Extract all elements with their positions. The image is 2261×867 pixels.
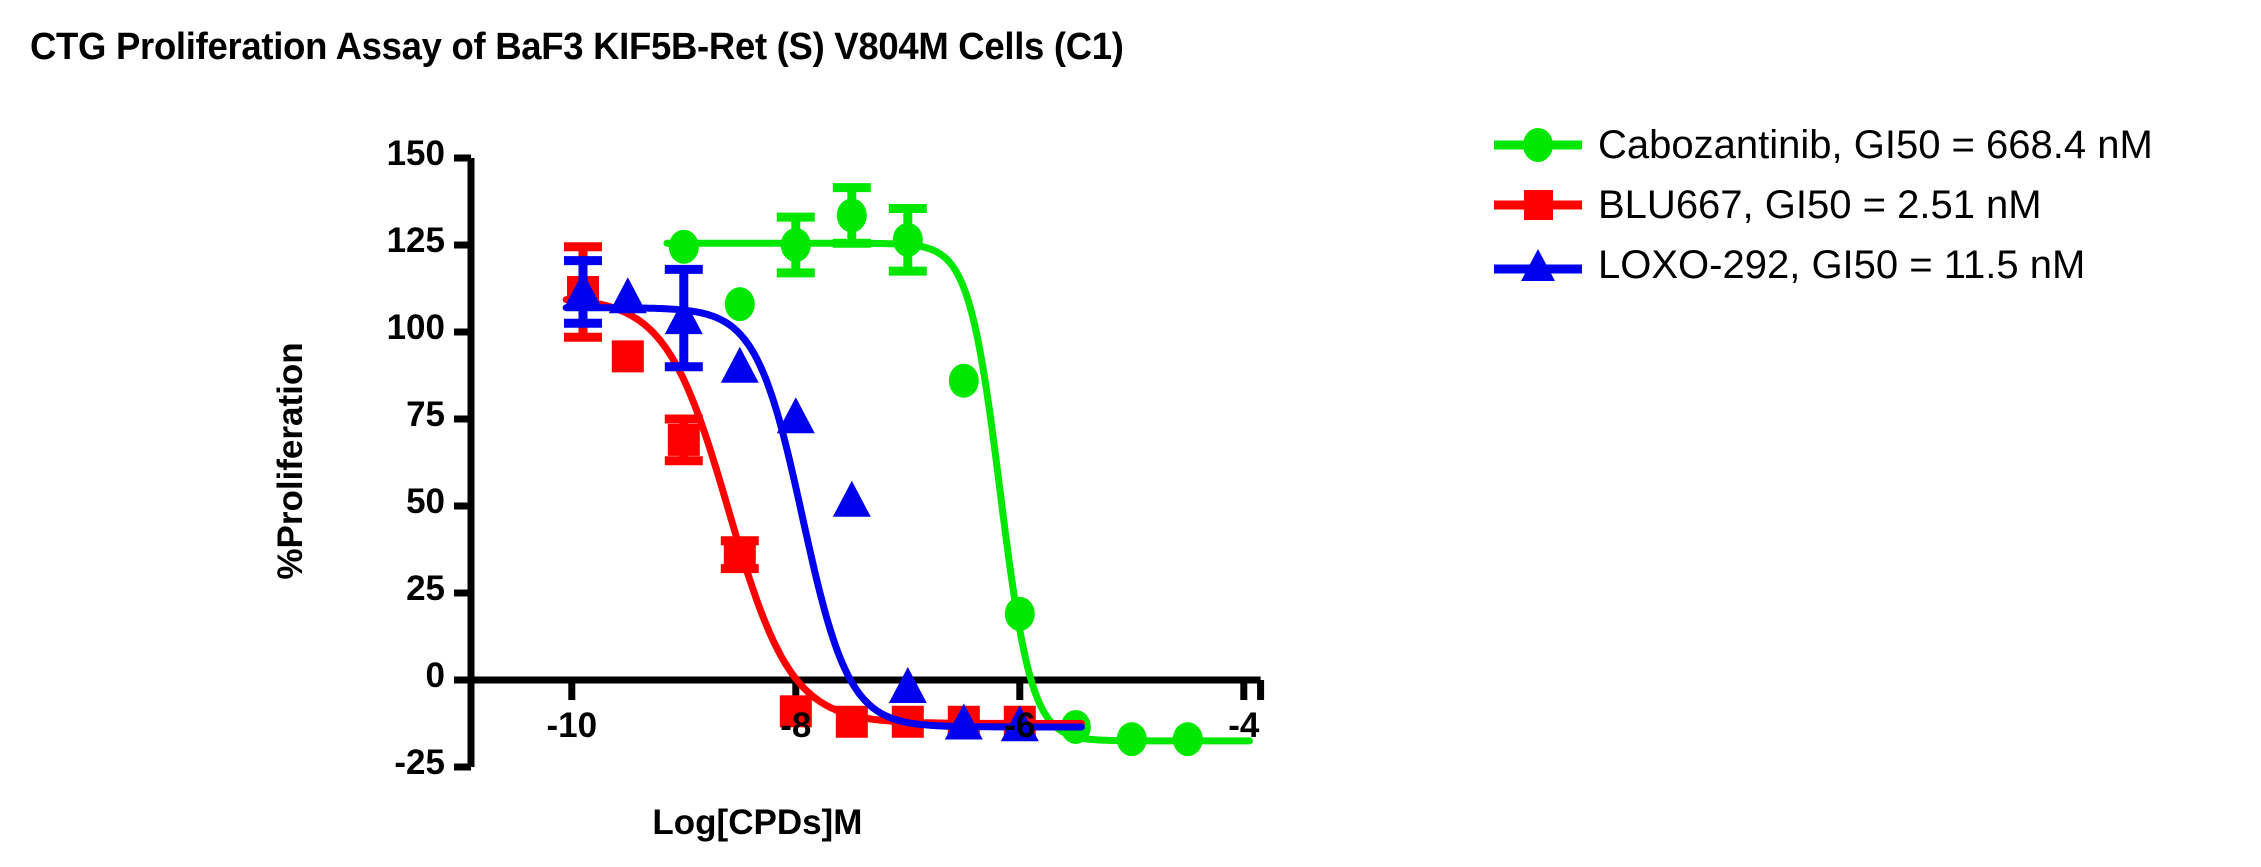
legend-item[interactable]: Cabozantinib, GI50 = 668.4 nM [1492,118,2153,172]
data-point-marker [833,481,871,517]
y-tick-label: 150 [295,134,445,174]
legend-label: BLU667, GI50 = 2.51 nM [1598,183,2042,228]
plot-area: %Proliferation Log[CPDs]M 15012510075502… [0,0,1500,867]
data-point-marker [665,298,703,334]
data-point-marker [612,340,644,372]
legend-item[interactable]: LOXO-292, GI50 = 11.5 nM [1492,238,2153,292]
x-tick-label: -8 [736,706,856,746]
data-point-marker [893,223,923,257]
data-point-marker [609,277,647,313]
data-point-marker [724,539,756,571]
legend-marker-circle-icon [1492,125,1584,165]
y-tick-label: 0 [295,656,445,696]
y-tick-label: 100 [295,308,445,348]
series-curve [667,243,1249,741]
y-tick-label: 50 [295,482,445,522]
y-axis-label: %Proliferation [271,311,311,611]
legend-marker-square-icon [1492,185,1584,225]
chart-legend: Cabozantinib, GI50 = 668.4 nM BLU667, GI… [1492,118,2153,298]
data-point-marker [1005,597,1035,631]
y-tick-label: 125 [295,221,445,261]
data-point-marker [837,198,867,232]
legend-label: Cabozantinib, GI50 = 668.4 nM [1598,123,2153,168]
y-tick-label: -25 [295,743,445,783]
data-point-marker [725,287,755,321]
data-point-marker [949,364,979,398]
x-tick-label: -4 [1184,706,1304,746]
legend-marker-triangle-icon [1492,245,1584,285]
data-point-marker [777,397,815,433]
series-group [564,188,1249,757]
data-point-marker [1117,722,1147,756]
x-tick-label: -6 [960,706,1080,746]
x-tick-label: -10 [512,706,632,746]
data-point-marker [668,424,700,456]
data-point-marker [669,230,699,264]
x-axis-label: Log[CPDs]M [607,803,907,843]
data-point-marker [781,228,811,262]
data-point-marker [889,667,927,703]
chart-page: CTG Proliferation Assay of BaF3 KIF5B-Re… [0,0,2261,867]
y-tick-label: 25 [295,569,445,609]
y-tick-label: 75 [295,395,445,435]
legend-item[interactable]: BLU667, GI50 = 2.51 nM [1492,178,2153,232]
legend-label: LOXO-292, GI50 = 11.5 nM [1598,243,2085,288]
